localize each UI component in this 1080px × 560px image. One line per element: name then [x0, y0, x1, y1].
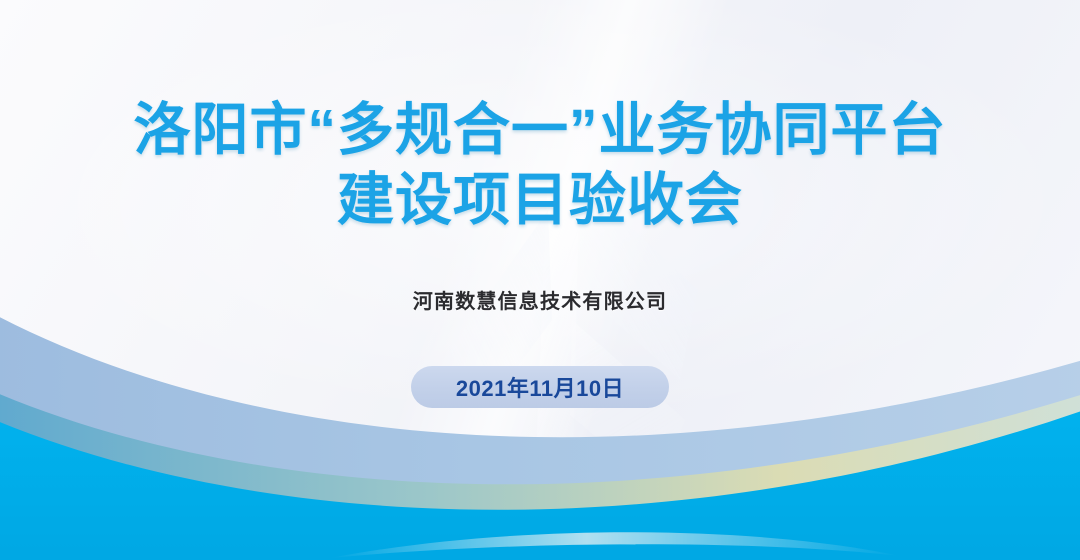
organization-subtitle: 河南数慧信息技术有限公司	[413, 285, 667, 314]
date-badge: 2021年11月10日	[411, 366, 669, 408]
slide-content: 洛阳市“多规合一”业务协同平台 建设项目验收会 河南数慧信息技术有限公司 202…	[0, 0, 1080, 560]
page-title-line-2: 建设项目验收会	[0, 165, 1080, 235]
presentation-title-slide: 洛阳市“多规合一”业务协同平台 建设项目验收会 河南数慧信息技术有限公司 202…	[0, 0, 1080, 560]
page-title-line-1: 洛阳市“多规合一”业务协同平台	[0, 95, 1080, 165]
